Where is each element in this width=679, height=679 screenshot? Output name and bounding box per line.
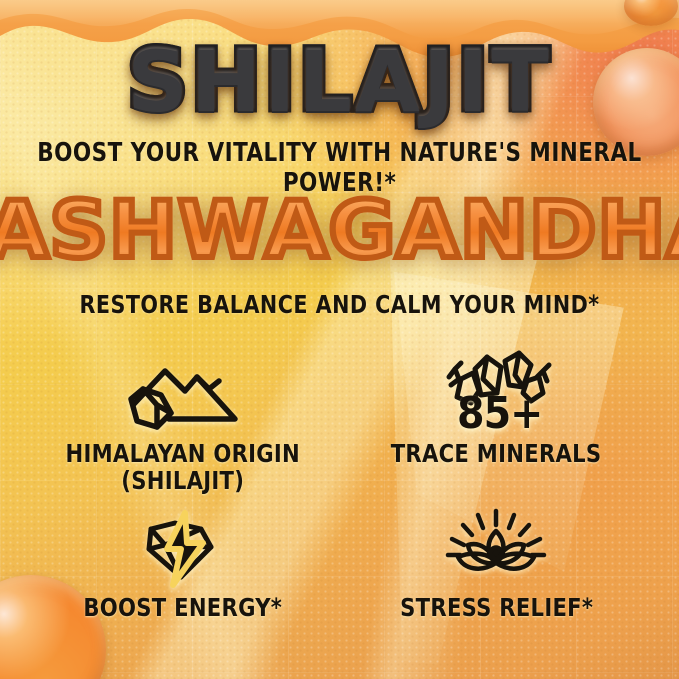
feature-item-stress-relief: STRESS RELIEF* [340, 508, 654, 672]
headline-secondary: ASHWAGANDHA [0, 192, 679, 270]
feature-label-line1: TRACE MINERALS [391, 439, 602, 468]
mountain-mineral-icon [113, 344, 253, 436]
lotus-rays-icon [436, 508, 556, 590]
feature-item-trace-minerals: 85+ TRACE MINERALS [340, 344, 654, 508]
feature-label-boost-energy: BOOST ENERGY* [83, 594, 282, 621]
feature-grid: HIMALAYAN ORIGIN (SHILAJIT) 85+ [0, 344, 679, 671]
feature-label-line1: HIMALAYAN ORIGIN [65, 439, 300, 468]
feature-label-trace-minerals: TRACE MINERALS [391, 440, 602, 467]
feature-label-line2: (SHILAJIT) [65, 467, 300, 494]
feature-item-himalayan-origin: HIMALAYAN ORIGIN (SHILAJIT) [26, 344, 340, 508]
banner-canvas: SHILAJIT BOOST YOUR VITALITY WITH NATURE… [0, 0, 679, 679]
feature-label-line1: STRESS RELIEF* [400, 593, 593, 622]
subtitle-secondary: RESTORE BALANCE AND CALM YOUR MIND* [27, 290, 652, 319]
headline-primary: SHILAJIT [127, 38, 551, 122]
headline-secondary-block: ASHWAGANDHA [0, 192, 679, 270]
feature-label-himalayan-origin: HIMALAYAN ORIGIN (SHILAJIT) [65, 440, 300, 494]
crystal-cluster-icon: 85+ [431, 344, 561, 436]
feature-label-line1: BOOST ENERGY* [83, 593, 282, 622]
trace-minerals-count-badge: 85+ [457, 388, 542, 439]
headline-primary-block: SHILAJIT [0, 38, 679, 122]
feature-label-stress-relief: STRESS RELIEF* [400, 594, 593, 621]
feature-item-boost-energy: BOOST ENERGY* [26, 508, 340, 672]
gem-lightning-icon [123, 508, 243, 590]
